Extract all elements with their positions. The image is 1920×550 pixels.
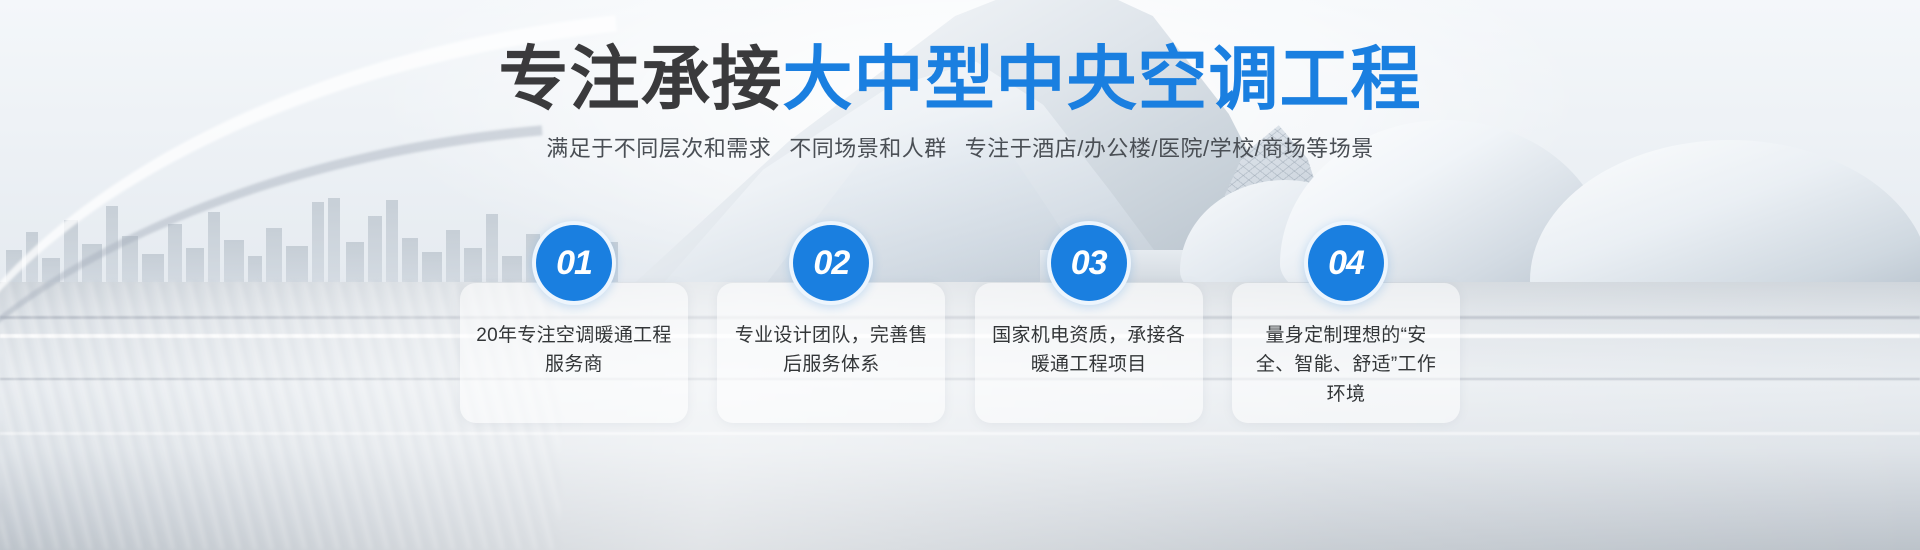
headline-block: 专注承接大中型中央空调工程 满足于不同层次和需求不同场景和人群专注于酒店/办公楼…	[0, 44, 1920, 162]
feature-card-text: 专业设计团队，完善售后服务体系	[733, 321, 929, 380]
feature-badge: 04	[1304, 221, 1388, 305]
feature-card[interactable]: 03 国家机电资质，承接各暖通工程项目	[975, 283, 1203, 423]
feature-card[interactable]: 02 专业设计团队，完善售后服务体系	[717, 283, 945, 423]
feature-badge: 01	[532, 221, 616, 305]
headline-dark-text: 专注承接	[499, 40, 783, 118]
feature-card-text: 国家机电资质，承接各暖通工程项目	[991, 321, 1187, 380]
subtitle-part-2: 不同场景和人群	[789, 136, 947, 161]
page-title: 专注承接大中型中央空调工程	[0, 44, 1920, 114]
feature-badge: 02	[789, 221, 873, 305]
feature-card[interactable]: 04 量身定制理想的“安全、智能、舒适”工作环境	[1232, 283, 1460, 423]
feature-card-list: 01 20年专注空调暖通工程服务商 02 专业设计团队，完善售后服务体系 03 …	[460, 283, 1460, 423]
feature-card-text: 量身定制理想的“安全、智能、舒适”工作环境	[1248, 321, 1444, 409]
feature-card-text: 20年专注空调暖通工程服务商	[476, 321, 672, 380]
subtitle-part-1: 满足于不同层次和需求	[546, 136, 771, 161]
hero-banner: 专注承接大中型中央空调工程 满足于不同层次和需求不同场景和人群专注于酒店/办公楼…	[0, 0, 1920, 550]
feature-card[interactable]: 01 20年专注空调暖通工程服务商	[460, 283, 688, 423]
feature-badge-number: 02	[813, 246, 849, 280]
page-subtitle: 满足于不同层次和需求不同场景和人群专注于酒店/办公楼/医院/学校/商场等场景	[0, 136, 1920, 162]
feature-badge: 03	[1047, 221, 1131, 305]
headline-blue-text: 大中型中央空调工程	[783, 40, 1422, 118]
subtitle-part-3: 专注于酒店/办公楼/医院/学校/商场等场景	[965, 136, 1374, 161]
feature-badge-number: 04	[1328, 246, 1364, 280]
feature-badge-number: 01	[556, 246, 592, 280]
feature-badge-number: 03	[1071, 246, 1107, 280]
